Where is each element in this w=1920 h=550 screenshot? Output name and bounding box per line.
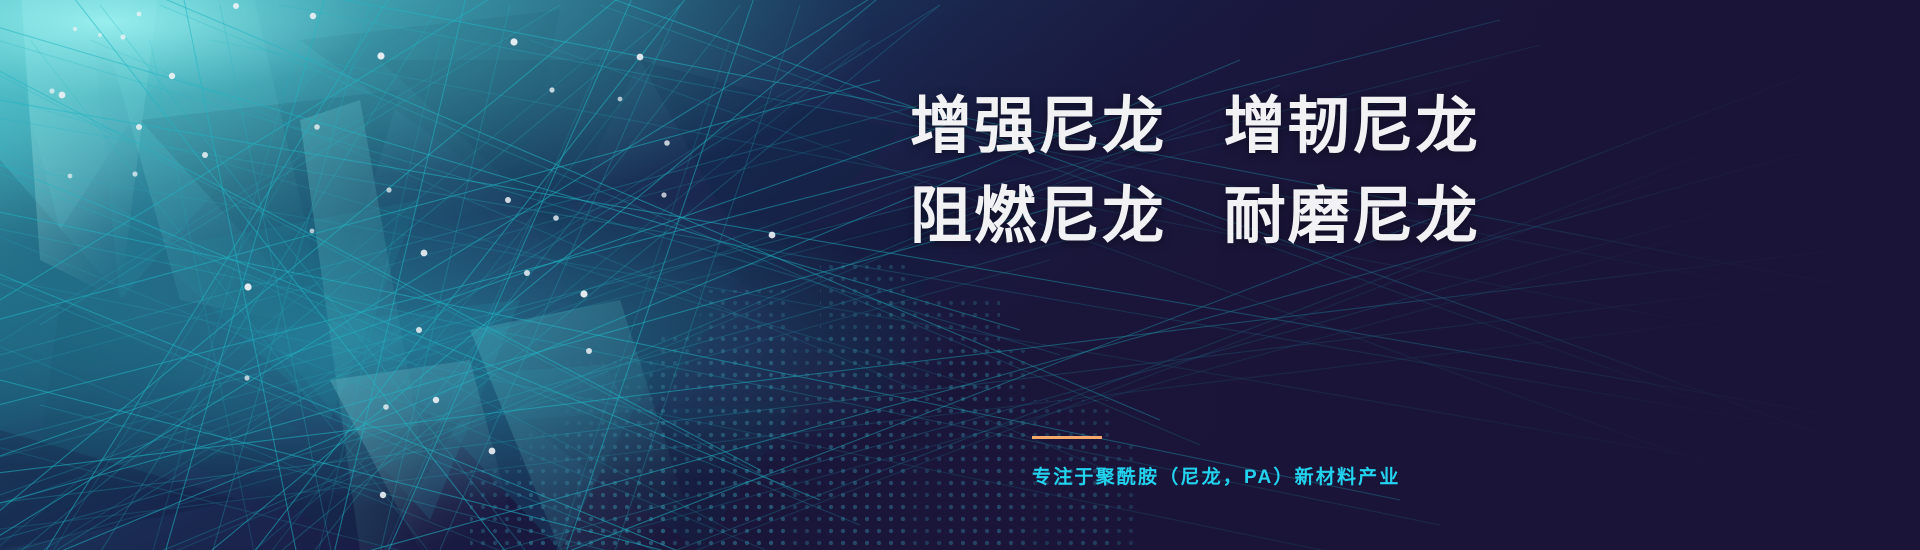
orange-divider-rule [1032,436,1102,439]
hero-banner: 增强尼龙 增韧尼龙 阻燃尼龙 耐磨尼龙 专注于聚酰胺（尼龙，PA）新材料产业 [0,0,1920,550]
tagline: 专注于聚酰胺（尼龙，PA）新材料产业 [1032,462,1401,489]
headline-line-1: 增强尼龙 增韧尼龙 [910,96,1480,158]
banner-content: 增强尼龙 增韧尼龙 阻燃尼龙 耐磨尼龙 专注于聚酰胺（尼龙，PA）新材料产业 [0,0,1920,550]
headline-line-2: 阻燃尼龙 耐磨尼龙 [910,186,1480,248]
